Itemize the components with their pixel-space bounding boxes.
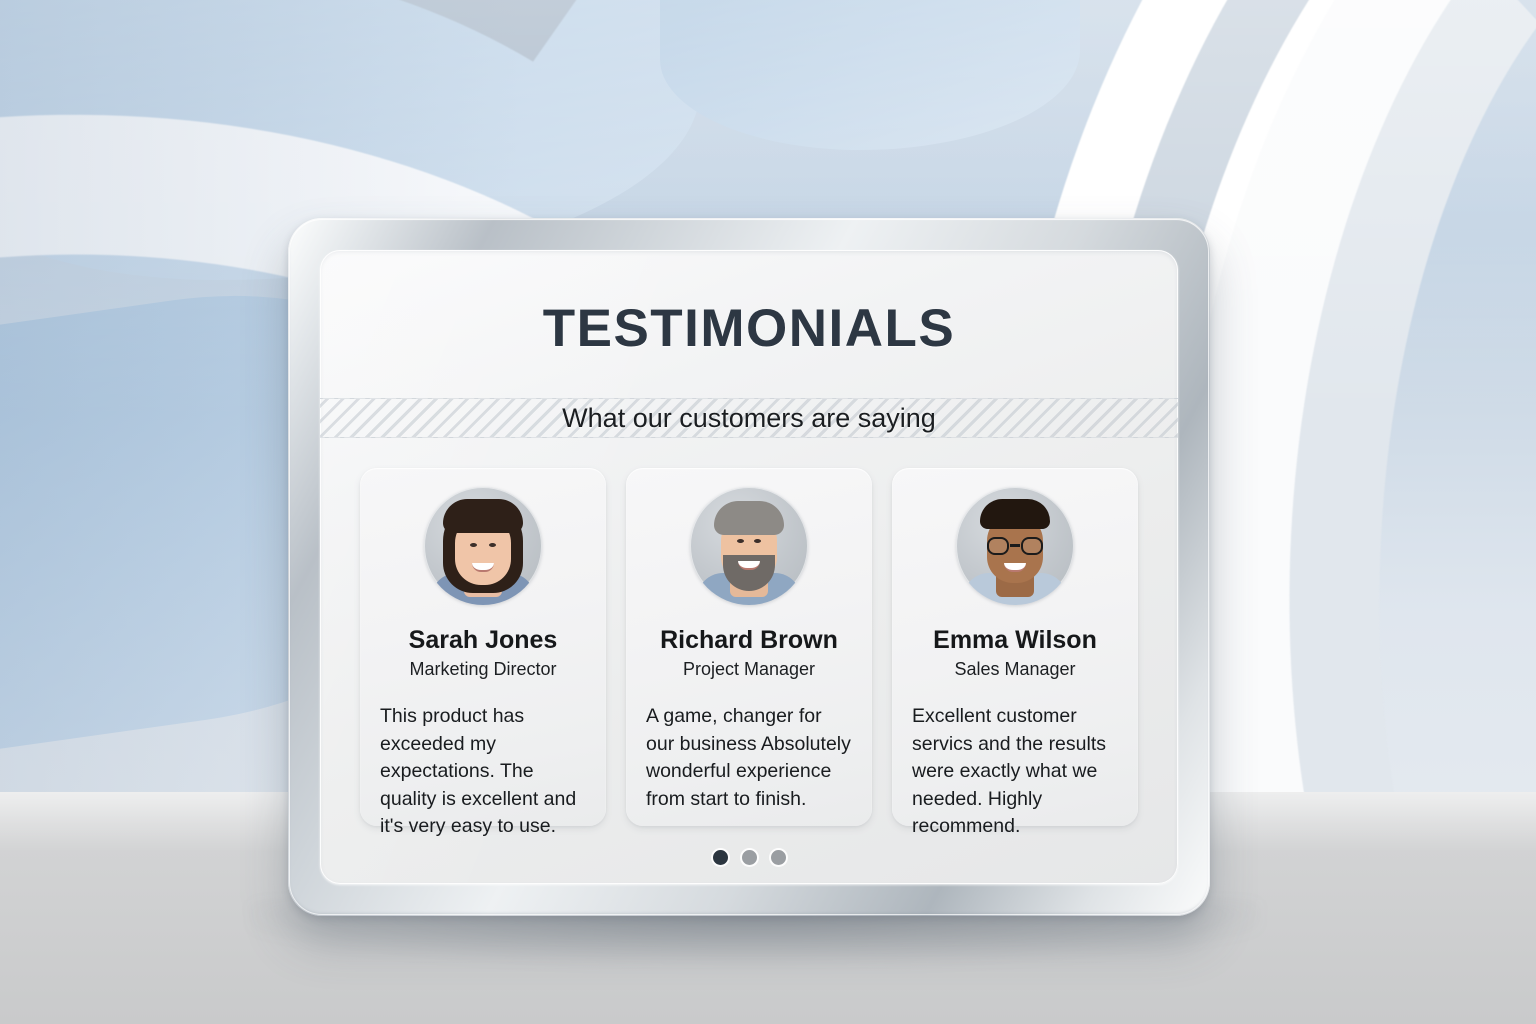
testimonial-quote: Excellent customer servics and the resul…	[912, 703, 1118, 841]
testimonial-role: Sales Manager	[954, 658, 1075, 681]
avatar-emma-wilson	[956, 487, 1074, 605]
testimonial-card[interactable]: Richard Brown Project Manager A game, ch…	[626, 468, 872, 826]
avatar-richard-brown	[690, 487, 808, 605]
testimonial-name: Richard Brown	[660, 625, 838, 655]
testimonial-name: Emma Wilson	[933, 625, 1097, 655]
tablet-device: TESTIMONIALS What our customers are sayi…	[288, 218, 1210, 916]
pagination-dot-1[interactable]	[713, 850, 728, 865]
pagination-dot-2[interactable]	[742, 850, 757, 865]
testimonial-card-list: Sarah Jones Marketing Director This prod…	[360, 468, 1138, 828]
avatar-sarah-jones	[424, 487, 542, 605]
background-scene: TESTIMONIALS What our customers are sayi…	[0, 0, 1536, 1024]
page-subtitle: What our customers are saying	[320, 400, 1178, 436]
testimonial-card[interactable]: Emma Wilson Sales Manager Excellent cust…	[892, 468, 1138, 826]
testimonial-quote: A game, changer for our business Absolut…	[646, 703, 852, 813]
testimonial-quote: This product has exceeded my expectation…	[380, 703, 586, 841]
testimonial-name: Sarah Jones	[409, 625, 558, 655]
glasses-icon	[987, 537, 1043, 555]
testimonial-role: Project Manager	[683, 658, 815, 681]
tablet-screen: TESTIMONIALS What our customers are sayi…	[320, 250, 1178, 884]
carousel-pagination	[320, 850, 1178, 865]
testimonial-role: Marketing Director	[409, 658, 556, 681]
page-title: TESTIMONIALS	[320, 298, 1178, 359]
testimonial-card[interactable]: Sarah Jones Marketing Director This prod…	[360, 468, 606, 826]
pagination-dot-3[interactable]	[771, 850, 786, 865]
